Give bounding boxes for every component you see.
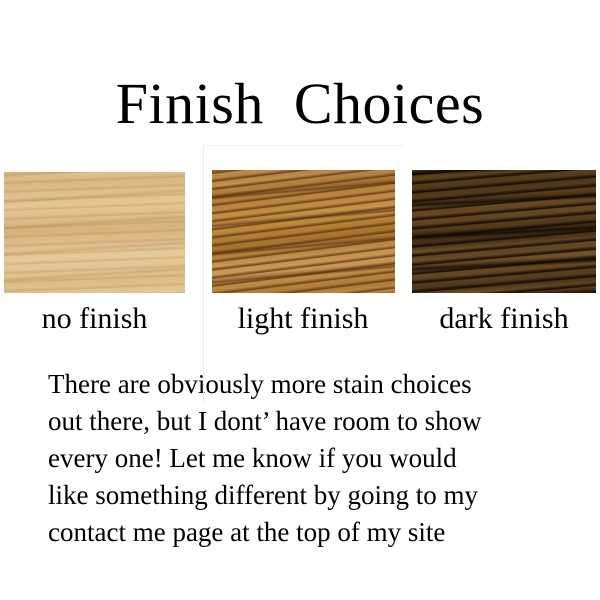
swatch-no-finish[interactable] (4, 172, 185, 293)
body-paragraph: There are obviously more stain choices o… (48, 366, 568, 551)
swatch-label-dark-finish: dark finish (412, 301, 596, 337)
wood-grain-texture-no-finish (4, 172, 185, 293)
body-line-3: every one! Let me know if you would (48, 440, 568, 477)
swatch-dark-finish[interactable] (412, 170, 596, 293)
image-seam-horizontal (203, 145, 405, 146)
body-line-4: like something different by going to my (48, 477, 568, 514)
image-seam-vertical (203, 145, 204, 403)
body-line-5: contact me page at the top of my site (48, 514, 568, 551)
swatch-label-light-finish: light finish (208, 301, 398, 337)
swatch-light-finish[interactable] (212, 170, 395, 293)
body-line-2: out there, but I dont’ have room to show (48, 403, 568, 440)
body-line-1: There are obviously more stain choices (48, 366, 568, 403)
finish-choices-page: Finish Choices no finish light finish da… (0, 0, 600, 600)
finish-swatch-row (0, 0, 600, 300)
wood-grain-texture-dark-finish (412, 170, 596, 293)
swatch-label-no-finish: no finish (4, 301, 185, 337)
wood-grain-texture-light-finish (212, 170, 395, 293)
